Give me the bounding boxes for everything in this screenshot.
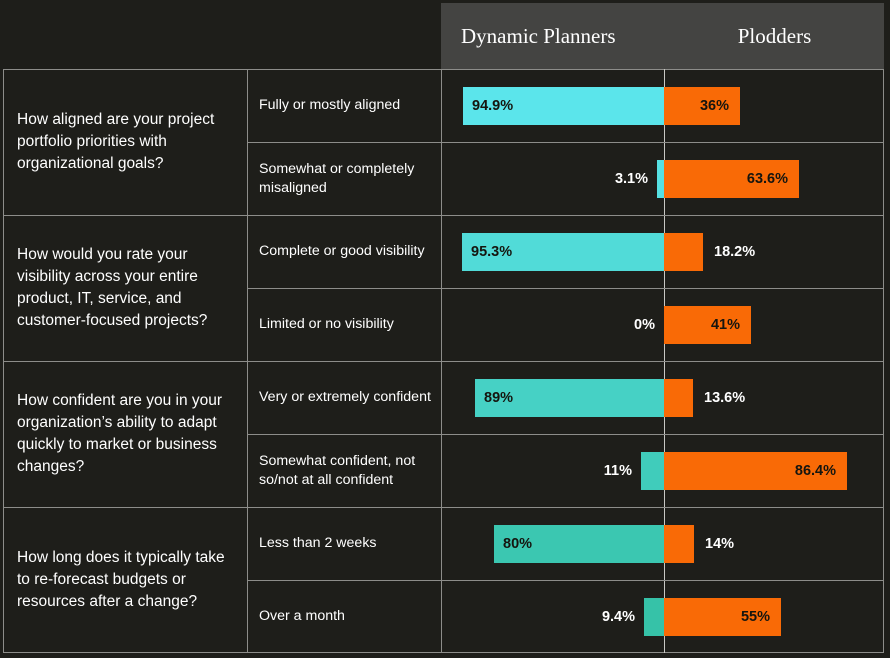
bar-value-plodders: 36% bbox=[700, 98, 729, 114]
bar-dynamic-planners: 94.9% bbox=[463, 87, 664, 125]
bar-track: 94.9%36% bbox=[441, 69, 884, 142]
bar-plodders: 63.6% bbox=[664, 160, 799, 198]
bar-plodders: 13.6% bbox=[664, 379, 693, 417]
bar-value-dynamic-planners: 80% bbox=[503, 536, 532, 552]
bar-value-plodders: 41% bbox=[711, 317, 740, 333]
bar-value-plodders: 86.4% bbox=[795, 463, 836, 479]
bar-track: 89%13.6% bbox=[441, 361, 884, 434]
bar-value-dynamic-planners: 3.1% bbox=[615, 171, 648, 187]
answer-text: Less than 2 weeks bbox=[259, 534, 377, 552]
bar-value-dynamic-planners: 11% bbox=[604, 463, 632, 479]
bar-dynamic-planners: 11% bbox=[641, 452, 664, 490]
grid-rule-subrow bbox=[247, 580, 884, 581]
answer-cell: Complete or good visibility bbox=[248, 215, 441, 288]
bar-track: 9.4%55% bbox=[441, 580, 884, 653]
answer-text: Fully or mostly aligned bbox=[259, 96, 400, 114]
answer-text: Very or extremely confident bbox=[259, 388, 431, 406]
bar-value-plodders: 63.6% bbox=[747, 171, 788, 187]
question-cell: How aligned are your project portfolio p… bbox=[3, 69, 247, 215]
bar-row: 9.4%55% bbox=[441, 580, 884, 653]
question-text: How aligned are your project portfolio p… bbox=[17, 109, 231, 175]
bar-row: 80%14% bbox=[441, 507, 884, 580]
answer-text: Somewhat or completely misaligned bbox=[259, 160, 431, 197]
grid-rule-subrow bbox=[247, 288, 884, 289]
bar-value-dynamic-planners: 95.3% bbox=[471, 244, 512, 260]
bar-row: 3.1%63.6% bbox=[441, 142, 884, 215]
question-text: How would you rate your visibility acros… bbox=[17, 244, 231, 332]
bar-track: 80%14% bbox=[441, 507, 884, 580]
bar-plodders: 55% bbox=[664, 598, 781, 636]
bar-dynamic-planners: 89% bbox=[475, 379, 664, 417]
question-text: How long does it typically take to re-fo… bbox=[17, 547, 231, 613]
bar-plodders: 41% bbox=[664, 306, 751, 344]
bar-track: 0%41% bbox=[441, 288, 884, 361]
bar-value-dynamic-planners: 9.4% bbox=[602, 609, 635, 625]
bar-plodders: 86.4% bbox=[664, 452, 847, 490]
bar-dynamic-planners: 9.4% bbox=[644, 598, 664, 636]
answer-cell: Over a month bbox=[248, 580, 441, 653]
bar-plodders: 36% bbox=[664, 87, 740, 125]
bar-track: 95.3%18.2% bbox=[441, 215, 884, 288]
answer-cell: Somewhat confident, not so/not at all co… bbox=[248, 434, 441, 507]
answer-cell: Somewhat or completely misaligned bbox=[248, 142, 441, 215]
bar-row: 95.3%18.2% bbox=[441, 215, 884, 288]
answer-cell: Limited or no visibility bbox=[248, 288, 441, 361]
question-cell: How long does it typically take to re-fo… bbox=[3, 507, 247, 653]
bar-value-dynamic-planners: 89% bbox=[484, 390, 513, 406]
answer-text: Somewhat confident, not so/not at all co… bbox=[259, 452, 431, 489]
bar-track: 3.1%63.6% bbox=[441, 142, 884, 215]
bar-value-dynamic-planners: 0% bbox=[634, 317, 655, 333]
grid-rule-subrow bbox=[247, 142, 884, 143]
bar-dynamic-planners: 95.3% bbox=[462, 233, 664, 271]
bar-dynamic-planners: 80% bbox=[494, 525, 664, 563]
bar-row: 89%13.6% bbox=[441, 361, 884, 434]
bar-value-plodders: 14% bbox=[705, 536, 734, 552]
bar-plodders: 14% bbox=[664, 525, 694, 563]
question-cell: How would you rate your visibility acros… bbox=[3, 215, 247, 361]
bar-value-plodders: 55% bbox=[741, 609, 770, 625]
answer-cell: Less than 2 weeks bbox=[248, 507, 441, 580]
header-label-plodders: Plodders bbox=[665, 3, 884, 69]
answer-text: Complete or good visibility bbox=[259, 242, 425, 260]
bar-value-plodders: 18.2% bbox=[714, 244, 755, 260]
bar-row: 11%86.4% bbox=[441, 434, 884, 507]
bar-plodders: 18.2% bbox=[664, 233, 703, 271]
chart-header-band: Dynamic Planners Plodders bbox=[441, 3, 884, 69]
grid-rule-subrow bbox=[247, 434, 884, 435]
bar-value-dynamic-planners: 94.9% bbox=[472, 98, 513, 114]
header-label-dynamic-planners: Dynamic Planners bbox=[461, 3, 616, 69]
comparison-bar-chart: Dynamic Planners Plodders How aligned ar… bbox=[0, 0, 890, 658]
question-cell: How confident are you in your organizati… bbox=[3, 361, 247, 507]
answer-cell: Very or extremely confident bbox=[248, 361, 441, 434]
bar-value-plodders: 13.6% bbox=[704, 390, 745, 406]
bar-row: 0%41% bbox=[441, 288, 884, 361]
answer-text: Limited or no visibility bbox=[259, 315, 394, 333]
question-text: How confident are you in your organizati… bbox=[17, 390, 231, 478]
bar-track: 11%86.4% bbox=[441, 434, 884, 507]
bar-dynamic-planners: 3.1% bbox=[657, 160, 664, 198]
answer-text: Over a month bbox=[259, 607, 345, 625]
answer-cell: Fully or mostly aligned bbox=[248, 69, 441, 142]
bar-row: 94.9%36% bbox=[441, 69, 884, 142]
